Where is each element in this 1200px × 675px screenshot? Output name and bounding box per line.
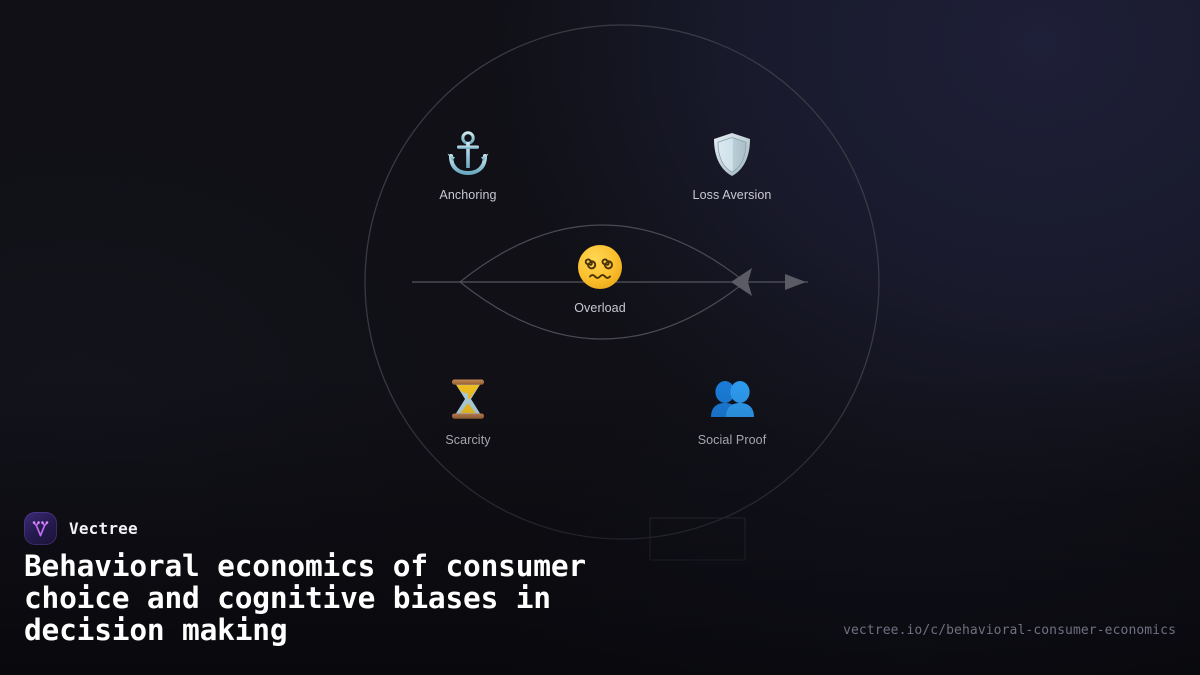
node-label: Anchoring [398,188,538,202]
arrow-right-icon [785,274,806,290]
shield-icon [662,128,802,180]
vectree-logo-icon [24,512,57,545]
node-overload[interactable]: Overload [530,241,670,315]
node-social-proof[interactable]: Social Proof [662,373,802,447]
node-label: Overload [530,301,670,315]
node-anchoring[interactable]: Anchoring [398,128,538,202]
node-scarcity[interactable]: Scarcity [398,373,538,447]
node-loss-aversion[interactable]: Loss Aversion [662,128,802,202]
two-people-icon [662,373,802,425]
brand-name: Vectree [69,519,138,538]
node-label: Social Proof [662,433,802,447]
anchor-icon [398,128,538,180]
source-url: vectree.io/c/behavioral-consumer-economi… [843,623,1176,638]
node-label: Loss Aversion [662,188,802,202]
page-title: Behavioral economics of consumer choice … [24,550,784,646]
hourglass-icon [398,373,538,425]
dizzy-face-icon [530,241,670,293]
node-label: Scarcity [398,433,538,447]
poster-canvas: Anchoring Loss Aversion [0,0,1200,675]
brand[interactable]: Vectree [24,512,138,545]
